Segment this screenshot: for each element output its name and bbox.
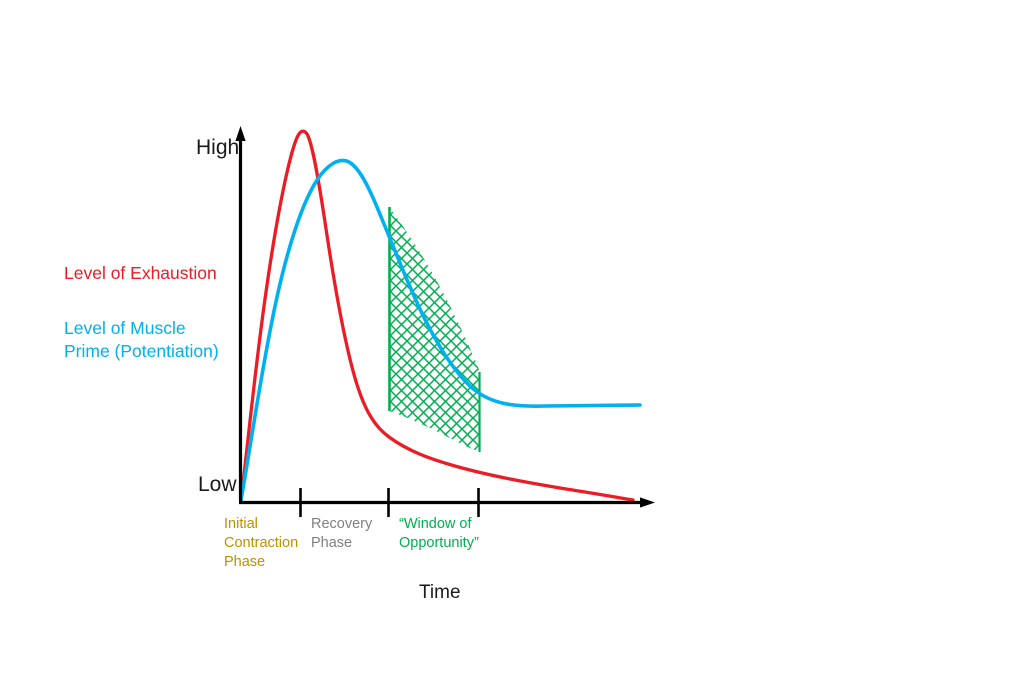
- y-axis-high-label: High: [196, 134, 239, 161]
- window-of-opportunity-region: [386, 200, 486, 462]
- legend-item-level-of-exhaustion: Level of Exhaustion: [64, 262, 217, 285]
- chart-canvas: High Low Level of Exhaustion Level of Mu…: [0, 0, 1024, 699]
- x-axis-phase-window-of-opportunity: “Window of Opportunity”: [399, 515, 479, 553]
- legend-item-level-of-muscle-prime: Level of Muscle Prime (Potentiation): [64, 317, 219, 363]
- y-axis-low-label: Low: [198, 471, 237, 498]
- x-axis-title: Time: [419, 581, 461, 606]
- x-axis-phase-initial-contraction: Initial Contraction Phase: [224, 515, 298, 572]
- x-axis-phase-recovery: Recovery Phase: [311, 515, 372, 553]
